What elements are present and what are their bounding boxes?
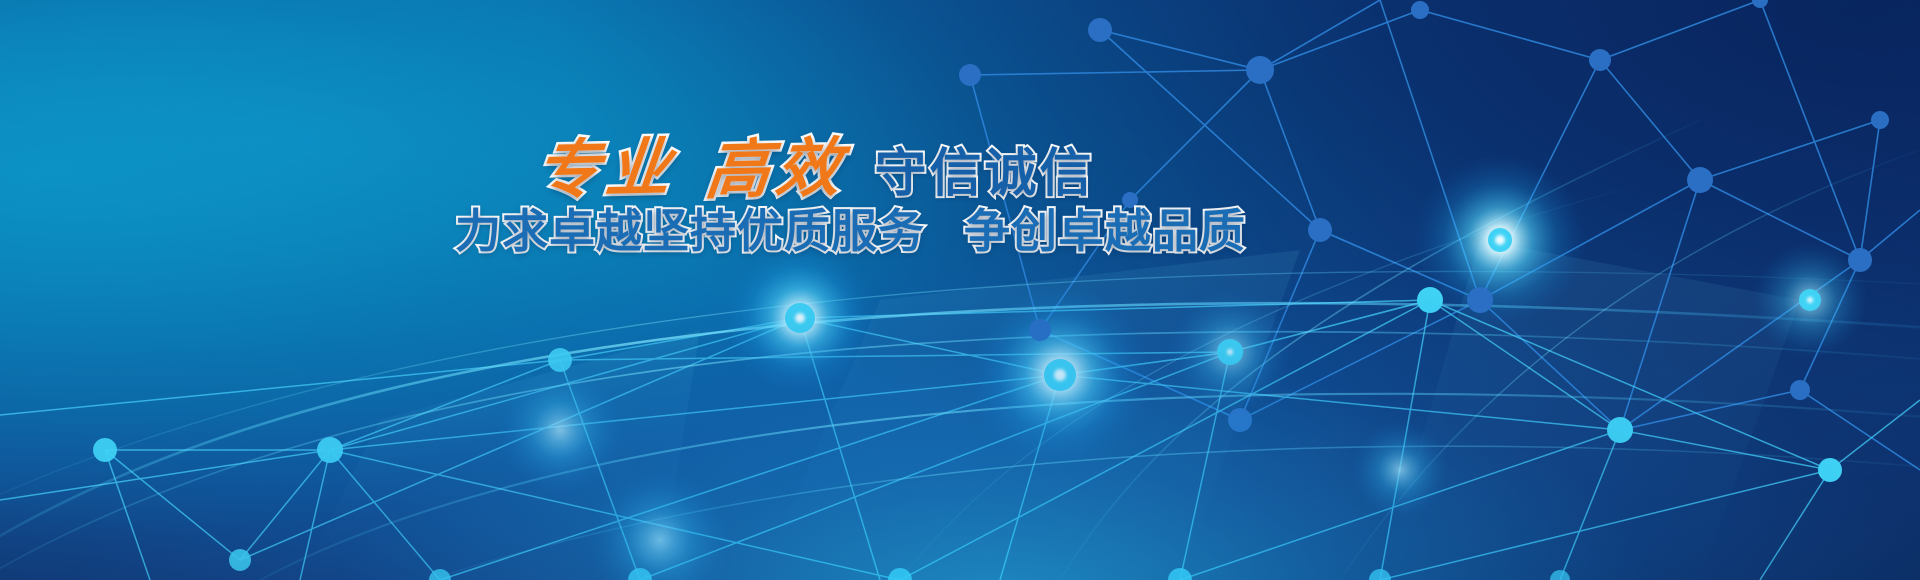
hero-banner: 专业 高效 守信诚信 力求卓越坚持优质服务 争创卓越品质 xyxy=(0,0,1920,580)
background-vignette xyxy=(0,0,1920,580)
